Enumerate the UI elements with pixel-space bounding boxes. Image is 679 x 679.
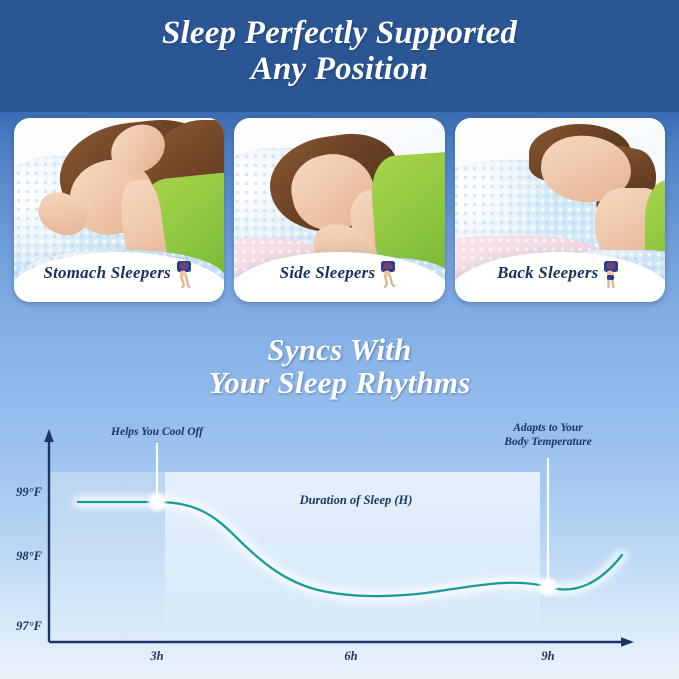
card-back-sleepers[interactable]: Back Sleepers xyxy=(455,118,665,302)
marker-cool-off[interactable] xyxy=(151,496,162,507)
sleep-temperature-chart: 99°F 98°F 97°F 3h 6h 9h Helps You Cool O… xyxy=(0,415,679,679)
card-label-side: Side Sleepers xyxy=(234,258,444,288)
page-title-primary-line1: Sleep Perfectly Supported xyxy=(0,16,679,52)
chart-y-axis-arrow xyxy=(44,429,54,442)
x-tick-label-3h: 3h xyxy=(149,649,163,663)
x-tick-label-6h: 6h xyxy=(344,649,357,663)
card-label-side-text: Side Sleepers xyxy=(280,263,376,282)
y-tick-label-98: 98°F xyxy=(16,549,42,563)
card-label-stomach: Stomach Sleepers xyxy=(14,258,224,288)
sleeper-back-icon xyxy=(600,258,622,288)
sleeper-stomach-icon xyxy=(173,258,195,288)
sleeper-side-icon xyxy=(377,258,399,288)
page-title-secondary: Syncs With Your Sleep Rhythms xyxy=(0,333,679,400)
y-tick-label-99: 99°F xyxy=(16,485,42,499)
y-tick-label-97: 97°F xyxy=(16,619,42,633)
marker-adapts[interactable] xyxy=(542,581,553,592)
chart-x-axis-arrow xyxy=(621,637,634,647)
annotation-adapts-line2: Body Temperature xyxy=(503,436,591,448)
card-stomach-sleepers[interactable]: Stomach Sleepers xyxy=(14,118,224,302)
page-title-secondary-line2: Your Sleep Rhythms xyxy=(0,366,679,399)
card-label-back-text: Back Sleepers xyxy=(497,263,598,282)
page-title-secondary-line1: Syncs With xyxy=(0,333,679,366)
annotation-helps-you-cool-off: Helps You Cool Off xyxy=(110,426,204,438)
page-title-primary: Sleep Perfectly Supported Any Position xyxy=(0,16,679,87)
annotation-adapts-line1: Adapts to Your xyxy=(512,422,583,434)
x-tick-label-9h: 9h xyxy=(541,649,554,663)
chart-svg: 99°F 98°F 97°F 3h 6h 9h Helps You Cool O… xyxy=(0,415,679,679)
card-label-back: Back Sleepers xyxy=(455,258,665,288)
chart-band-label-duration-of-sleep: Duration of Sleep (H) xyxy=(299,493,413,507)
card-side-sleepers[interactable]: Side Sleepers xyxy=(234,118,444,302)
card-label-stomach-text: Stomach Sleepers xyxy=(43,263,170,282)
sleeper-position-cards: Stomach Sleepers Side Sleepers xyxy=(14,118,665,302)
page-title-primary-line2: Any Position xyxy=(0,52,679,88)
